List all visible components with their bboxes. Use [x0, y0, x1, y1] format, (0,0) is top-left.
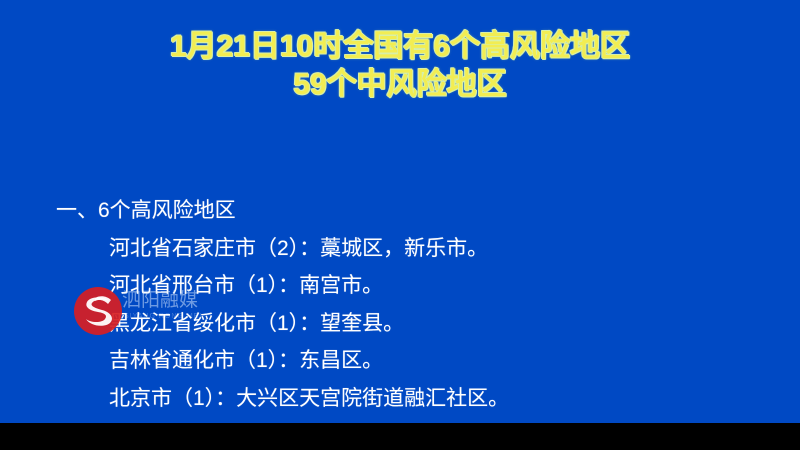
news-slide: 1月21日10时全国有6个高风险地区 59个中风险地区 一、6个高风险地区 河北…	[0, 0, 800, 423]
list-item: 北京市（1）：大兴区天宫院街道融汇社区。	[56, 380, 776, 418]
video-frame: 1月21日10时全国有6个高风险地区 59个中风险地区 一、6个高风险地区 河北…	[0, 0, 800, 450]
title-line-2: 59个中风险地区	[0, 66, 800, 104]
title-line-1: 1月21日10时全国有6个高风险地区	[0, 28, 800, 66]
list-item: 吉林省通化市（1）：东昌区。	[56, 342, 776, 380]
bottom-letterbox-bar	[0, 423, 800, 450]
slide-title: 1月21日10时全国有6个高风险地区 59个中风险地区	[0, 28, 800, 104]
slide-body: 一、6个高风险地区 河北省石家庄市（2）：藁城区，新乐市。 河北省邢台市（1）：…	[56, 192, 776, 417]
list-item: 河北省石家庄市（2）：藁城区，新乐市。	[56, 230, 776, 268]
body-heading: 一、6个高风险地区	[56, 192, 776, 230]
list-item: 河北省邢台市（1）：南宫市。	[56, 267, 776, 305]
list-item: 黑龙江省绥化市（1）：望奎县。	[56, 305, 776, 343]
